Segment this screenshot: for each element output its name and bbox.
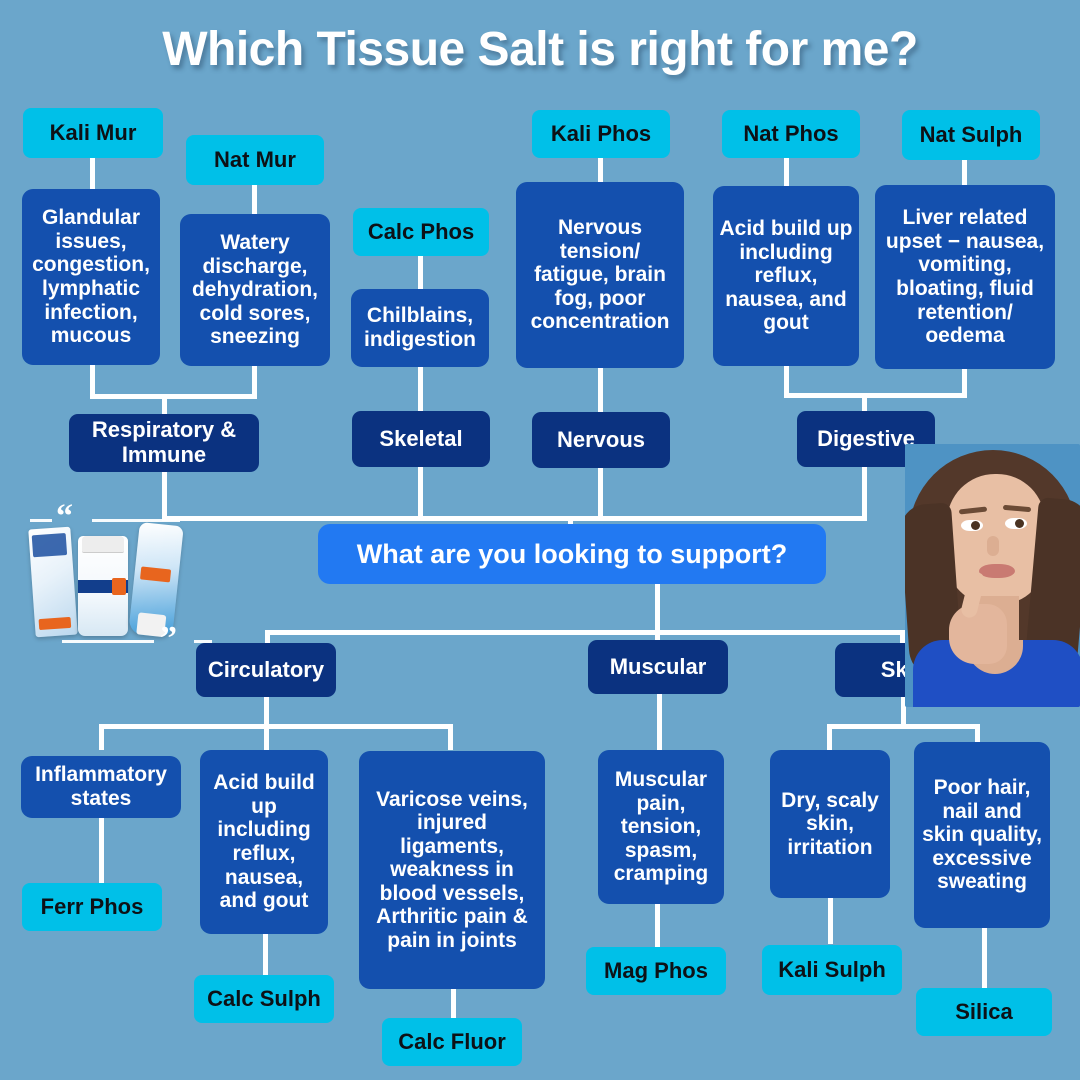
nose-shape xyxy=(987,536,999,556)
trunk-stem-skeletal xyxy=(418,467,423,519)
fan-bar-circulatory xyxy=(99,724,453,729)
bracket-drop-skeletal xyxy=(418,367,423,412)
salt-pill-label: Kali Mur xyxy=(50,121,137,146)
connector-mag-phos xyxy=(655,904,660,948)
hand-shape xyxy=(949,604,1007,664)
bracket-stem-nat-mur xyxy=(252,366,257,397)
fan-drop-muscular xyxy=(657,694,662,750)
salt-pill-nat-sulph[interactable]: Nat Sulph xyxy=(902,110,1040,160)
page-title: Which Tissue Salt is right for me? xyxy=(0,22,1080,77)
bracket-stem-kali-mur xyxy=(90,365,95,397)
salt-pill-label: Silica xyxy=(955,1000,1012,1025)
salt-pill-kali-mur[interactable]: Kali Mur xyxy=(23,108,163,158)
trunk-stem-nervous xyxy=(598,468,603,519)
bracket-bar-respiratory xyxy=(90,394,257,399)
connector-kali-mur xyxy=(90,158,95,190)
symptom-box-inflammatory: Inflammatory states xyxy=(21,756,181,818)
salt-pill-label: Nat Sulph xyxy=(920,123,1023,148)
symptom-text: Poor hair, nail and skin quality, excess… xyxy=(920,776,1044,894)
bracket-stem-nat-sulph xyxy=(962,369,967,396)
central-question-label: What are you looking to support? xyxy=(357,539,787,569)
salt-pill-label: Nat Mur xyxy=(214,148,296,173)
central-question-box[interactable]: What are you looking to support? xyxy=(318,524,826,584)
infographic-canvas: Which Tissue Salt is right for me? Kali … xyxy=(0,0,1080,1080)
connector-silica xyxy=(982,928,987,988)
product-spray-box xyxy=(28,527,77,638)
connector-kali-phos xyxy=(598,158,603,182)
connector-kali-sulph xyxy=(828,898,833,944)
fan-drop-acid xyxy=(264,724,269,750)
product-spray-label xyxy=(39,617,72,630)
connector-nat-sulph xyxy=(962,160,967,185)
trunk-stem-digestive xyxy=(862,467,867,519)
category-circulatory[interactable]: Circulatory xyxy=(196,643,336,697)
pupil-right xyxy=(1015,519,1024,528)
connector-ferr-phos xyxy=(99,818,104,884)
symptom-box-nat-sulph: Liver related upset − nausea, vomiting, … xyxy=(875,185,1055,369)
symptom-text: Dry, scaly skin, irritation xyxy=(776,789,884,860)
lips-shape xyxy=(979,564,1015,578)
salt-pill-label: Kali Phos xyxy=(551,122,651,147)
product-jar-chip xyxy=(112,578,126,595)
trunk-drop-circulatory xyxy=(265,630,270,644)
symptom-text: Watery discharge, dehydration, cold sore… xyxy=(186,231,324,349)
bracket-drop-respiratory xyxy=(162,394,167,416)
salt-pill-ferr-phos[interactable]: Ferr Phos xyxy=(22,883,162,931)
salt-pill-nat-mur[interactable]: Nat Mur xyxy=(186,135,324,185)
product-jar-lid xyxy=(82,536,124,553)
salt-pill-nat-phos[interactable]: Nat Phos xyxy=(722,110,860,158)
connector-nat-mur xyxy=(252,185,257,215)
category-label: Circulatory xyxy=(208,658,324,683)
symptom-text: Chilblains, indigestion xyxy=(357,304,483,351)
product-tablet-jar xyxy=(78,536,128,636)
category-muscular[interactable]: Muscular xyxy=(588,640,728,694)
symptom-box-acid-build-up: Acid build up including reflux, nausea, … xyxy=(200,750,328,934)
salt-pill-calc-fluor[interactable]: Calc Fluor xyxy=(382,1018,522,1066)
symptom-text: Varicose veins, injured ligaments, weakn… xyxy=(365,788,539,953)
connector-calc-sulph xyxy=(263,934,268,978)
bracket-drop-digestive xyxy=(862,393,867,413)
symptom-box-nat-mur: Watery discharge, dehydration, cold sore… xyxy=(180,214,330,366)
fan-bar-skin xyxy=(827,724,979,729)
salt-pill-calc-phos[interactable]: Calc Phos xyxy=(353,208,489,256)
category-label: Nervous xyxy=(557,428,645,453)
bracket-bar-digestive xyxy=(784,393,967,398)
salt-pill-label: Mag Phos xyxy=(604,959,708,984)
quote-rule-bottom-left xyxy=(62,640,154,643)
bracket-stem-nat-phos xyxy=(784,366,789,396)
quote-rule-bottom-right xyxy=(194,640,212,643)
connector-calc-fluor xyxy=(451,989,456,1019)
symptom-text: Acid build up including reflux, nausea, … xyxy=(206,771,322,912)
symptom-text: Muscular pain, tension, spasm, cramping xyxy=(604,768,718,886)
thinking-woman-photo xyxy=(905,444,1080,707)
fan-drop-varicose xyxy=(448,724,453,750)
symptom-text: Nervous tension/ fatigue, brain fog, poo… xyxy=(522,216,678,334)
category-skeletal[interactable]: Skeletal xyxy=(352,411,490,467)
trunk-bar-upper xyxy=(162,516,867,521)
category-label: Muscular xyxy=(610,655,707,680)
symptom-box-calc-phos: Chilblains, indigestion xyxy=(351,289,489,367)
fan-drop-inflammatory xyxy=(99,724,104,750)
symptom-box-poor-hair: Poor hair, nail and skin quality, excess… xyxy=(914,742,1050,928)
pupil-left xyxy=(971,521,980,530)
salt-pill-kali-sulph[interactable]: Kali Sulph xyxy=(762,945,902,995)
symptom-box-kali-mur: Glandular issues, congestion, lymphatic … xyxy=(22,189,160,365)
salt-pill-calc-sulph[interactable]: Calc Sulph xyxy=(194,975,334,1023)
salt-pill-label: Calc Fluor xyxy=(398,1030,506,1055)
symptom-box-kali-phos: Nervous tension/ fatigue, brain fog, poo… xyxy=(516,182,684,368)
salt-pill-mag-phos[interactable]: Mag Phos xyxy=(586,947,726,995)
close-quote-mark: ” xyxy=(160,622,177,656)
product-tube-chip xyxy=(140,566,171,582)
category-label: Respiratory & Immune xyxy=(75,418,253,467)
symptom-text: Liver related upset − nausea, vomiting, … xyxy=(881,206,1049,347)
salt-pill-label: Kali Sulph xyxy=(778,958,886,983)
bracket-drop-nervous xyxy=(598,368,603,412)
salt-pill-label: Calc Phos xyxy=(368,220,474,245)
connector-calc-phos xyxy=(418,256,423,290)
salt-pill-label: Ferr Phos xyxy=(41,895,144,920)
product-spray-cap xyxy=(32,533,67,557)
salt-pill-label: Calc Sulph xyxy=(207,987,321,1012)
symptom-text: Inflammatory states xyxy=(27,763,175,810)
category-label: Skeletal xyxy=(379,427,462,452)
fan-stem-circulatory xyxy=(264,697,269,727)
salt-pill-kali-phos[interactable]: Kali Phos xyxy=(532,110,670,158)
salt-pill-silica[interactable]: Silica xyxy=(916,988,1052,1036)
category-label: Digestive xyxy=(817,427,915,452)
fan-drop-dry-skin xyxy=(827,724,832,750)
category-respiratory-immune[interactable]: Respiratory & Immune xyxy=(69,414,259,472)
symptom-text: Glandular issues, congestion, lymphatic … xyxy=(28,206,154,347)
symptom-box-nat-phos: Acid build up including reflux, nausea, … xyxy=(713,186,859,366)
connector-nat-phos xyxy=(784,158,789,186)
salt-pill-label: Nat Phos xyxy=(743,122,838,147)
symptom-box-muscular: Muscular pain, tension, spasm, cramping xyxy=(598,750,724,904)
symptom-box-varicose: Varicose veins, injured ligaments, weakn… xyxy=(359,751,545,989)
trunk-bar-lower xyxy=(265,630,905,635)
category-nervous[interactable]: Nervous xyxy=(532,412,670,468)
symptom-box-dry-skin: Dry, scaly skin, irritation xyxy=(770,750,890,898)
symptom-text: Acid build up including reflux, nausea, … xyxy=(719,217,853,335)
